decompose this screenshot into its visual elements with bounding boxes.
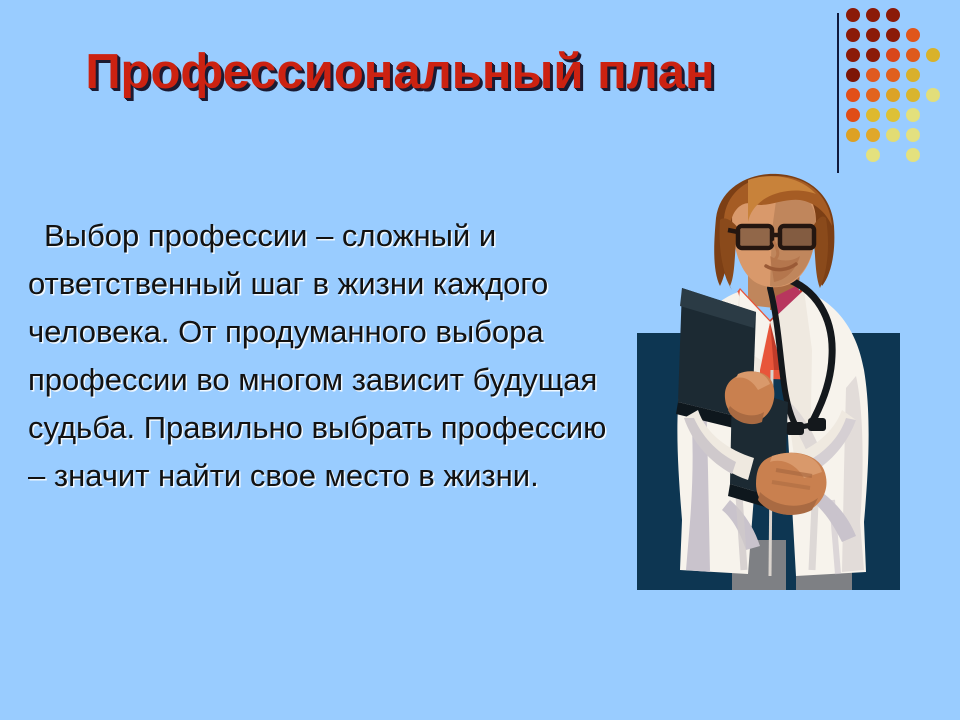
decor-dot [886, 28, 900, 42]
decor-dot [866, 48, 880, 62]
decor-dot [906, 128, 920, 142]
decor-dot [866, 128, 880, 142]
body-paragraph: Выбор профессии – сложный и ответственны… [28, 212, 618, 500]
decor-dot [866, 108, 880, 122]
decor-dot [846, 28, 860, 42]
decor-dot [886, 108, 900, 122]
page-title: Профессиональный план [0, 44, 800, 100]
doctor-illustration [620, 170, 920, 595]
decor-dot [846, 88, 860, 102]
decorative-vertical-rule [837, 13, 839, 173]
decor-dot [866, 68, 880, 82]
decor-dot [886, 128, 900, 142]
decor-dot [846, 8, 860, 22]
decor-dot [866, 28, 880, 42]
decor-dot [926, 48, 940, 62]
decor-dot [906, 108, 920, 122]
decor-dot [846, 108, 860, 122]
decor-dot [906, 48, 920, 62]
decor-dot [906, 28, 920, 42]
decor-dot [886, 88, 900, 102]
decor-dot [886, 8, 900, 22]
decor-dot [906, 88, 920, 102]
decor-dot [846, 128, 860, 142]
decorative-dot-grid [846, 8, 956, 176]
decor-dot [906, 148, 920, 162]
decor-dot [866, 148, 880, 162]
decor-dot [926, 88, 940, 102]
decor-dot [866, 8, 880, 22]
decor-dot [846, 48, 860, 62]
decor-dot [846, 68, 860, 82]
decor-dot [886, 48, 900, 62]
decor-dot [906, 68, 920, 82]
decor-dot [886, 68, 900, 82]
slide-canvas: Профессиональный план Выбор профессии – … [0, 0, 960, 720]
decor-dot [866, 88, 880, 102]
doctor-figure-icon [620, 170, 920, 595]
